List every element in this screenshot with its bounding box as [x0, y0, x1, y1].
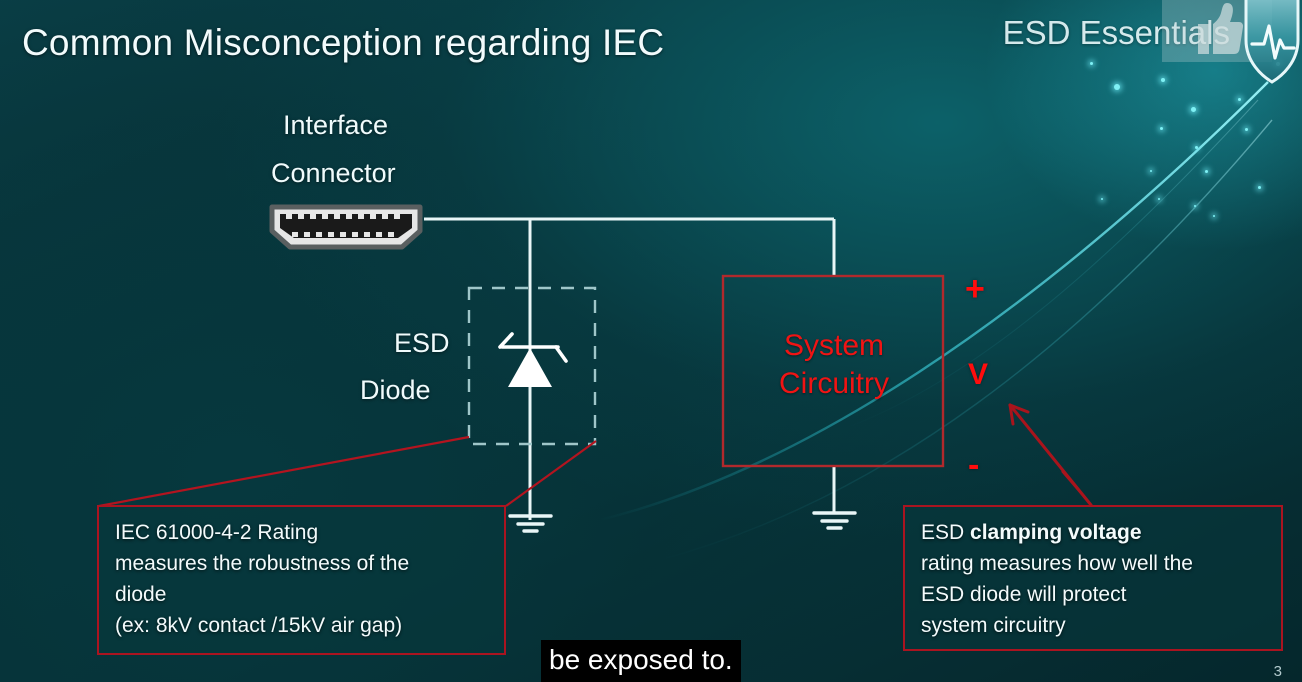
connector-label-line1: Interface	[283, 110, 388, 141]
bg-particle	[1101, 198, 1103, 200]
polarity-minus-label: -	[968, 448, 979, 482]
bg-particle	[1090, 62, 1093, 65]
bg-particle	[1195, 146, 1198, 149]
system-circuitry-line1: System	[724, 327, 944, 365]
bg-particle	[1160, 127, 1163, 130]
callout-clamping-voltage: ESD clamping voltage rating measures how…	[903, 505, 1283, 651]
bg-particle	[1205, 170, 1208, 173]
callout-leader-left	[99, 437, 596, 506]
ground-symbol	[814, 513, 855, 528]
slide-canvas: Common Misconception regarding IEC ESD E…	[0, 0, 1302, 682]
shield-heartbeat-logo-icon	[1242, 0, 1302, 88]
esd-diode-boundary	[469, 288, 595, 444]
callout-right-prefix: ESD	[921, 521, 970, 544]
thumbs-up-icon	[1192, 2, 1244, 56]
polarity-voltage-label: V	[968, 360, 988, 390]
connector-label-line2: Connector	[271, 158, 396, 189]
hdmi-connector-icon	[266, 203, 426, 251]
page-title: Common Misconception regarding IEC	[22, 22, 664, 64]
callout-left-line: (ex: 8kV contact /15kV air gap)	[115, 610, 490, 641]
callout-right-emphasis: clamping voltage	[970, 521, 1142, 544]
zener-diode-symbol	[500, 334, 566, 387]
video-caption: be exposed to.	[541, 640, 741, 682]
callout-left-line: measures the robustness of the	[115, 548, 490, 579]
callout-iec-rating: IEC 61000-4-2 Rating measures the robust…	[97, 505, 506, 655]
callout-right-line4: system circuitry	[921, 610, 1267, 641]
bg-particle	[1258, 186, 1261, 189]
bg-particle	[1213, 215, 1215, 217]
bg-particle	[1194, 205, 1196, 207]
polarity-plus-label: +	[965, 272, 985, 306]
callout-right-line1: ESD clamping voltage	[921, 517, 1267, 548]
ground-symbol	[510, 516, 551, 531]
diode-label-line2: Diode	[360, 375, 431, 406]
bg-particle	[1238, 98, 1241, 101]
callout-right-line3: ESD diode will protect	[921, 579, 1267, 610]
bg-particle	[1191, 107, 1196, 112]
bg-particle	[1245, 128, 1248, 131]
bg-particle	[1161, 78, 1165, 82]
bg-particle	[1150, 170, 1152, 172]
bg-particle	[1158, 198, 1160, 200]
diode-label-line1: ESD	[394, 328, 450, 359]
callout-left-line: IEC 61000-4-2 Rating	[115, 517, 490, 548]
callout-right-line2: rating measures how well the	[921, 548, 1267, 579]
system-circuitry-label: System Circuitry	[724, 327, 944, 403]
system-circuitry-line2: Circuitry	[724, 365, 944, 403]
callout-left-line: diode	[115, 579, 490, 610]
callout-leader-right	[1062, 471, 1092, 506]
clamping-voltage-arrow	[1010, 405, 1091, 505]
bg-particle	[1114, 84, 1120, 90]
slide-number: 3	[1274, 663, 1282, 680]
